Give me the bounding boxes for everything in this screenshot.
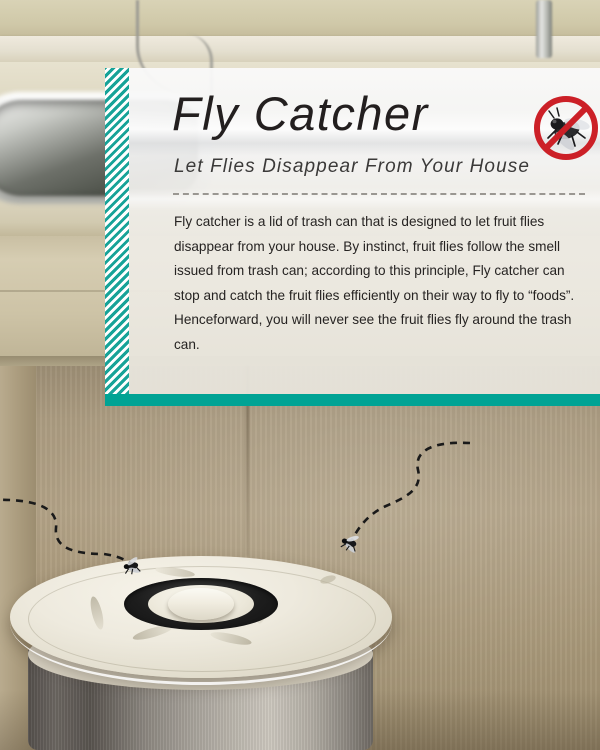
poster-canvas: Fly Catcher Let Flies Disappear From You…: [0, 0, 600, 750]
fly-icon: [339, 531, 360, 554]
dashed-divider: [173, 193, 585, 195]
product-description: Fly catcher is a lid of trash can that i…: [174, 210, 586, 357]
card-content: Fly Catcher Let Flies Disappear From You…: [128, 68, 600, 394]
no-fly-prohibition-icon: [532, 94, 600, 162]
card-accent-bar: [105, 394, 600, 406]
info-card: Fly Catcher Let Flies Disappear From You…: [105, 68, 600, 406]
card-stripe-band: [105, 68, 129, 394]
fly-icon: [122, 555, 141, 576]
page-title: Fly Catcher: [172, 90, 429, 137]
flight-path-left: [0, 500, 132, 564]
page-subtitle: Let Flies Disappear From Your House: [174, 156, 530, 178]
fly-illustration: [548, 108, 591, 153]
flight-path-right: [352, 443, 470, 540]
